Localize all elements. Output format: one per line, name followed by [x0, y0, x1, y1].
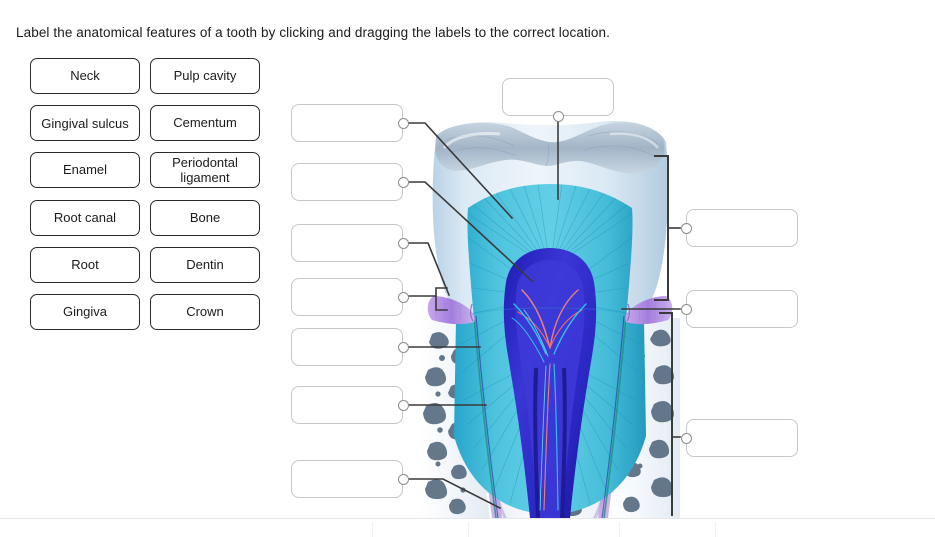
label-chip-pulp-cavity[interactable]: Pulp cavity: [150, 58, 260, 94]
label-chip-gingiva[interactable]: Gingiva: [30, 294, 140, 330]
connector-dot-target-left-7: [398, 474, 409, 485]
connector-dot-target-left-3: [398, 238, 409, 249]
label-chip-bone[interactable]: Bone: [150, 200, 260, 236]
connector-dot-target-left-4: [398, 292, 409, 303]
label-chip-dentin[interactable]: Dentin: [150, 247, 260, 283]
drop-target-target-left-5[interactable]: [291, 328, 403, 366]
tooth-cross-section-figure: [418, 118, 682, 518]
label-chip-root-canal[interactable]: Root canal: [30, 200, 140, 236]
instruction-text: Label the anatomical features of a tooth…: [16, 25, 610, 40]
drop-target-target-left-4[interactable]: [291, 278, 403, 316]
label-chip-neck[interactable]: Neck: [30, 58, 140, 94]
drop-target-target-left-2[interactable]: [291, 163, 403, 201]
label-chip-gingival-sulcus[interactable]: Gingival sulcus: [30, 105, 140, 141]
tooth-labeling-exercise: Label the anatomical features of a tooth…: [0, 0, 935, 537]
label-chip-crown[interactable]: Crown: [150, 294, 260, 330]
drop-target-target-left-3[interactable]: [291, 224, 403, 262]
bottom-cell-divider: [372, 522, 373, 537]
drop-target-target-right-3[interactable]: [686, 419, 798, 457]
bottom-cell-divider: [619, 522, 620, 537]
drop-target-target-left-7[interactable]: [291, 460, 403, 498]
connector-dot-target-right-2: [681, 304, 692, 315]
drop-target-target-right-1[interactable]: [686, 209, 798, 247]
label-chip-root[interactable]: Root: [30, 247, 140, 283]
drop-target-target-left-6[interactable]: [291, 386, 403, 424]
label-chip-cementum[interactable]: Cementum: [150, 105, 260, 141]
label-chip-periodontal-ligament[interactable]: Periodontal ligament: [150, 152, 260, 188]
bottom-divider: [0, 518, 935, 519]
connector-dot-target-right-1: [681, 223, 692, 234]
label-chip-enamel[interactable]: Enamel: [30, 152, 140, 188]
drop-target-target-left-1[interactable]: [291, 104, 403, 142]
connector-dot-target-top: [553, 111, 564, 122]
bottom-cell-divider: [468, 522, 469, 537]
connector-dot-target-left-1: [398, 118, 409, 129]
connector-dot-target-left-5: [398, 342, 409, 353]
drop-target-target-right-2[interactable]: [686, 290, 798, 328]
connector-dot-target-right-3: [681, 433, 692, 444]
connector-dot-target-left-2: [398, 177, 409, 188]
connector-dot-target-left-6: [398, 400, 409, 411]
bottom-cell-divider: [715, 522, 716, 537]
